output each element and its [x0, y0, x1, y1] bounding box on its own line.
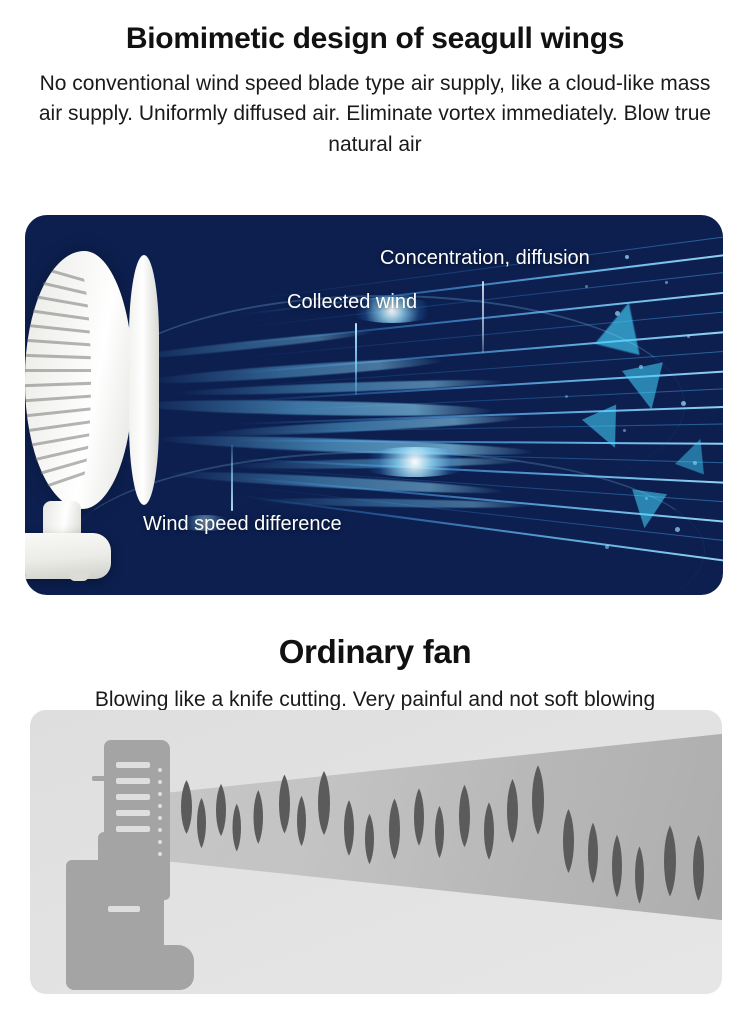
leader-line-concentration-diffusion	[482, 281, 484, 353]
fan-knob	[92, 776, 106, 781]
data-speckle	[687, 335, 690, 338]
ordinary-fan-panel	[30, 710, 722, 994]
airflow-chevron-icon	[675, 434, 715, 475]
fan-rim	[129, 255, 159, 505]
fan-base	[25, 533, 111, 579]
comparison-description: Blowing like a knife cutting. Very painf…	[0, 688, 750, 712]
leader-line-wind-speed-difference	[231, 445, 233, 511]
data-speckle	[665, 281, 668, 284]
callout-collected-wind: Collected wind	[287, 291, 417, 313]
page-title: Biomimetic design of seagull wings	[20, 22, 730, 55]
seagull-wing-hero-panel: Concentration, diffusion Collected wind …	[25, 215, 723, 595]
fan-base	[66, 945, 194, 990]
page-description: No conventional wind speed blade type ai…	[34, 69, 716, 160]
data-speckle	[625, 255, 629, 259]
callout-concentration-diffusion: Concentration, diffusion	[380, 247, 590, 269]
fan-grille	[25, 265, 91, 497]
data-speckle	[585, 285, 588, 288]
ordinary-fan-silhouette	[66, 740, 216, 985]
seagull-fan-product	[25, 251, 157, 581]
callout-wind-speed-difference: Wind speed difference	[143, 513, 342, 535]
comparison-title: Ordinary fan	[0, 633, 750, 671]
fan-upper-housing	[104, 740, 170, 900]
hero-artwork: Concentration, diffusion Collected wind …	[25, 215, 723, 595]
leader-line-collected-wind	[355, 323, 357, 395]
fan-foot	[69, 571, 89, 581]
